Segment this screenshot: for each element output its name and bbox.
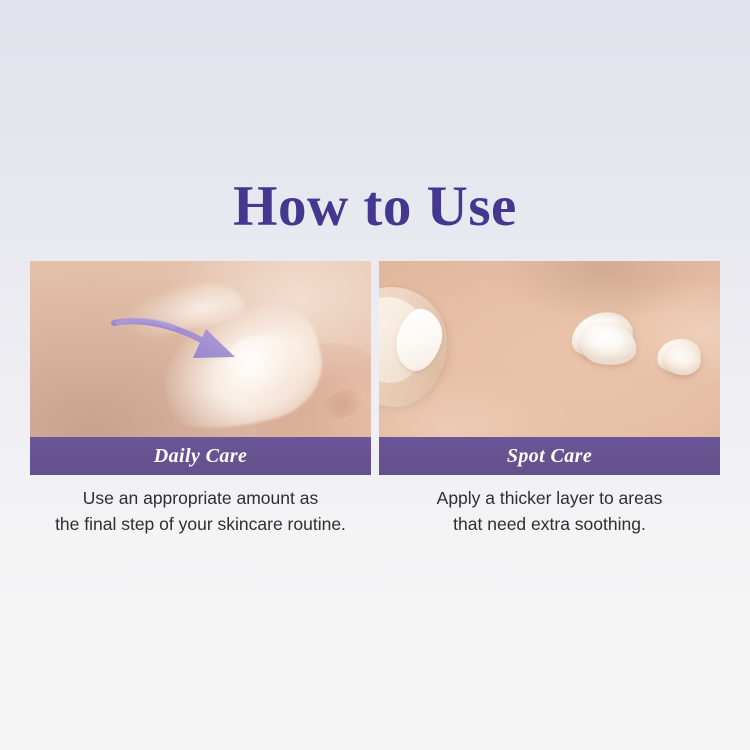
panel-daily-care: Daily Care — [30, 261, 371, 475]
page-title-container: How to Use — [0, 175, 750, 239]
caption-spot-care-line-2: that need extra soothing. — [379, 511, 720, 537]
caption-row: Use an appropriate amount as the final s… — [30, 485, 720, 537]
caption-daily-care-line-1: Use an appropriate amount as — [30, 485, 371, 511]
curved-arrow-icon — [30, 261, 371, 437]
caption-spot-care: Apply a thicker layer to areas that need… — [379, 485, 720, 537]
band-spot-care: Spot Care — [379, 437, 720, 475]
photo-daily-care — [30, 261, 371, 437]
caption-daily-care: Use an appropriate amount as the final s… — [30, 485, 371, 537]
panel-row: Daily Care Spot Care — [30, 261, 720, 475]
panel-spot-care: Spot Care — [379, 261, 720, 475]
photo-spot-care — [379, 261, 720, 437]
band-label-spot-care: Spot Care — [507, 445, 592, 468]
how-to-use-page: How to Use Daily Care — [0, 0, 750, 750]
caption-daily-care-line-2: the final step of your skincare routine. — [30, 511, 371, 537]
band-daily-care: Daily Care — [30, 437, 371, 475]
caption-spot-care-line-1: Apply a thicker layer to areas — [379, 485, 720, 511]
band-label-daily-care: Daily Care — [154, 445, 247, 468]
page-title: How to Use — [0, 175, 750, 239]
